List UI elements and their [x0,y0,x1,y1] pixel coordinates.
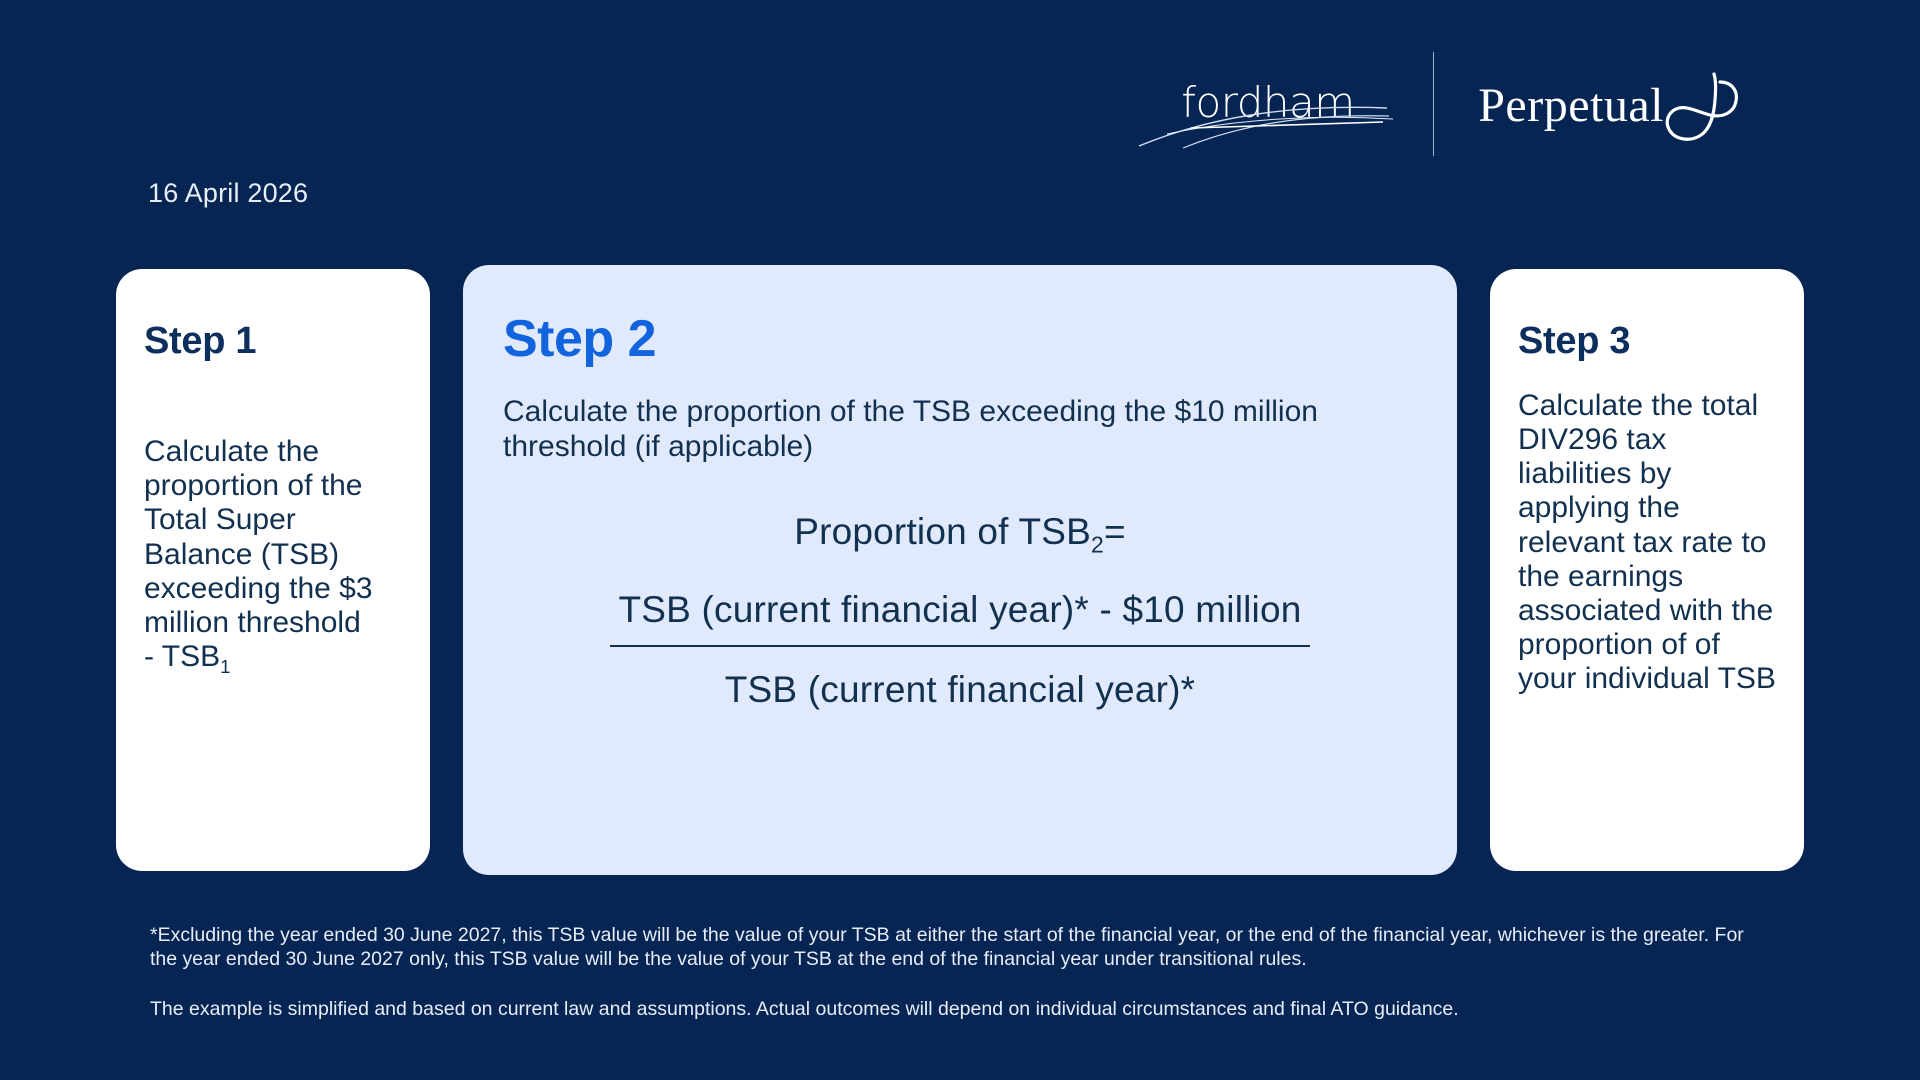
footnotes: *Excluding the year ended 30 June 2027, … [150,924,1770,1021]
step-2-title: Step 2 [503,313,1417,365]
steps-container: Step 1 Calculate the proportion of the T… [116,265,1804,875]
step-3-title: Step 3 [1518,321,1776,363]
step-2-card: Step 2 Calculate the proportion of the T… [463,265,1457,875]
formula-denominator: TSB (current financial year)* [725,647,1196,711]
logo-divider [1433,52,1434,156]
formula-numerator: TSB (current financial year)* - $10 mill… [618,589,1301,645]
formula-fraction: TSB (current financial year)* - $10 mill… [503,589,1417,711]
formula-lead-subscript: 2 [1091,531,1104,557]
formula-lead-suffix: = [1104,511,1126,552]
fordham-wordmark: fordham [1181,82,1354,124]
brand-logo-lockup: fordham Perpetual [1181,52,1742,156]
step-1-card: Step 1 Calculate the proportion of the T… [116,269,430,871]
formula-lead-prefix: Proportion of TSB [794,511,1091,552]
step-1-body: Calculate the proportion of the Total Su… [144,401,402,675]
footnote-disclaimer: The example is simplified and based on c… [150,998,1770,1022]
step-2-formula: Proportion of TSB2= TSB (current financi… [503,511,1417,711]
fordham-logo: fordham [1181,58,1381,150]
presentation-date: 16 April 2026 [148,178,308,209]
step-1-subscript: 1 [220,656,230,677]
step-1-title: Step 1 [144,321,402,363]
perpetual-logo: Perpetual [1478,58,1742,150]
perpetual-wordmark: Perpetual [1478,82,1664,150]
footnote-asterisk: *Excluding the year ended 30 June 2027, … [150,924,1770,972]
formula-lead: Proportion of TSB2= [794,511,1126,553]
step-3-card: Step 3 Calculate the total DIV296 tax li… [1490,269,1804,871]
step-2-intro-text: Calculate the proportion of the TSB exce… [503,395,1417,465]
step-3-body: Calculate the total DIV296 tax liabiliti… [1518,389,1776,697]
step-1-body-text: Calculate the proportion of the Total Su… [144,435,373,673]
perpetual-flourish-icon [1658,58,1742,150]
